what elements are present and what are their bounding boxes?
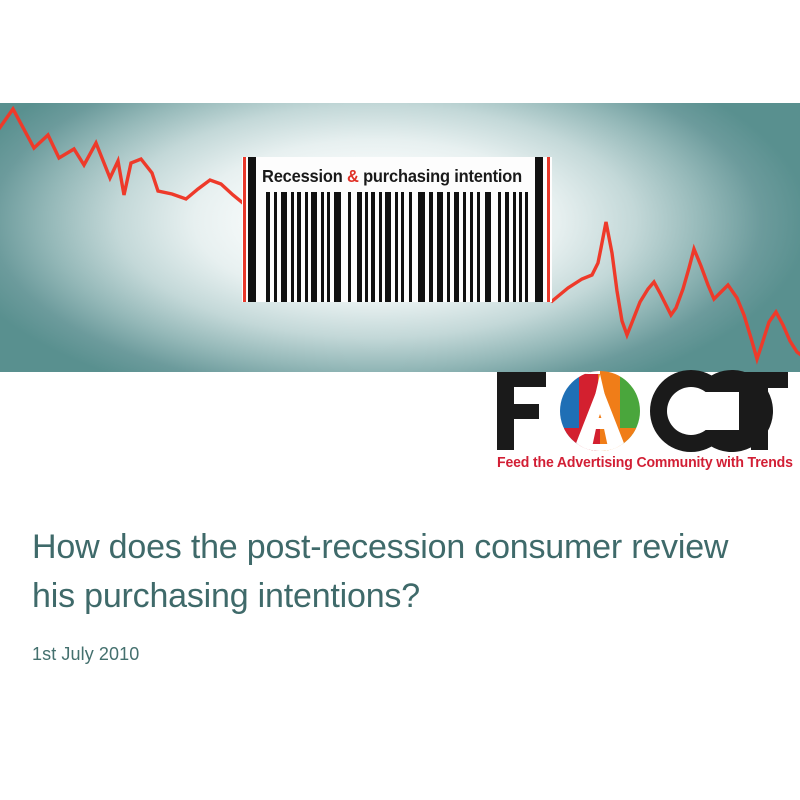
fact-logo-mark [495,370,790,452]
barcode-title-suffix: purchasing intention [359,166,522,186]
barcode-graphic: Recession & purchasing intention [242,157,552,302]
fact-logo: Feed the Advertising Community with Tren… [495,370,790,478]
page-date: 1st July 2010 [32,644,772,665]
fact-logo-tagline: Feed the Advertising Community with Tren… [497,455,780,471]
title-block: How does the post-recession consumer rev… [32,523,772,665]
barcode-title: Recession & purchasing intention [262,166,522,187]
barcode-left-rule [243,157,246,302]
logo-letter-f [497,372,546,450]
page-title: How does the post-recession consumer rev… [32,523,772,622]
barcode-title-prefix: Recession [262,166,347,186]
logo-letter-a-disc [556,370,645,452]
barcode-right-rule [547,157,550,302]
barcode-title-ampersand: & [347,166,359,186]
slide-page: { "banner": { "name": "recession-banner-… [0,0,800,800]
